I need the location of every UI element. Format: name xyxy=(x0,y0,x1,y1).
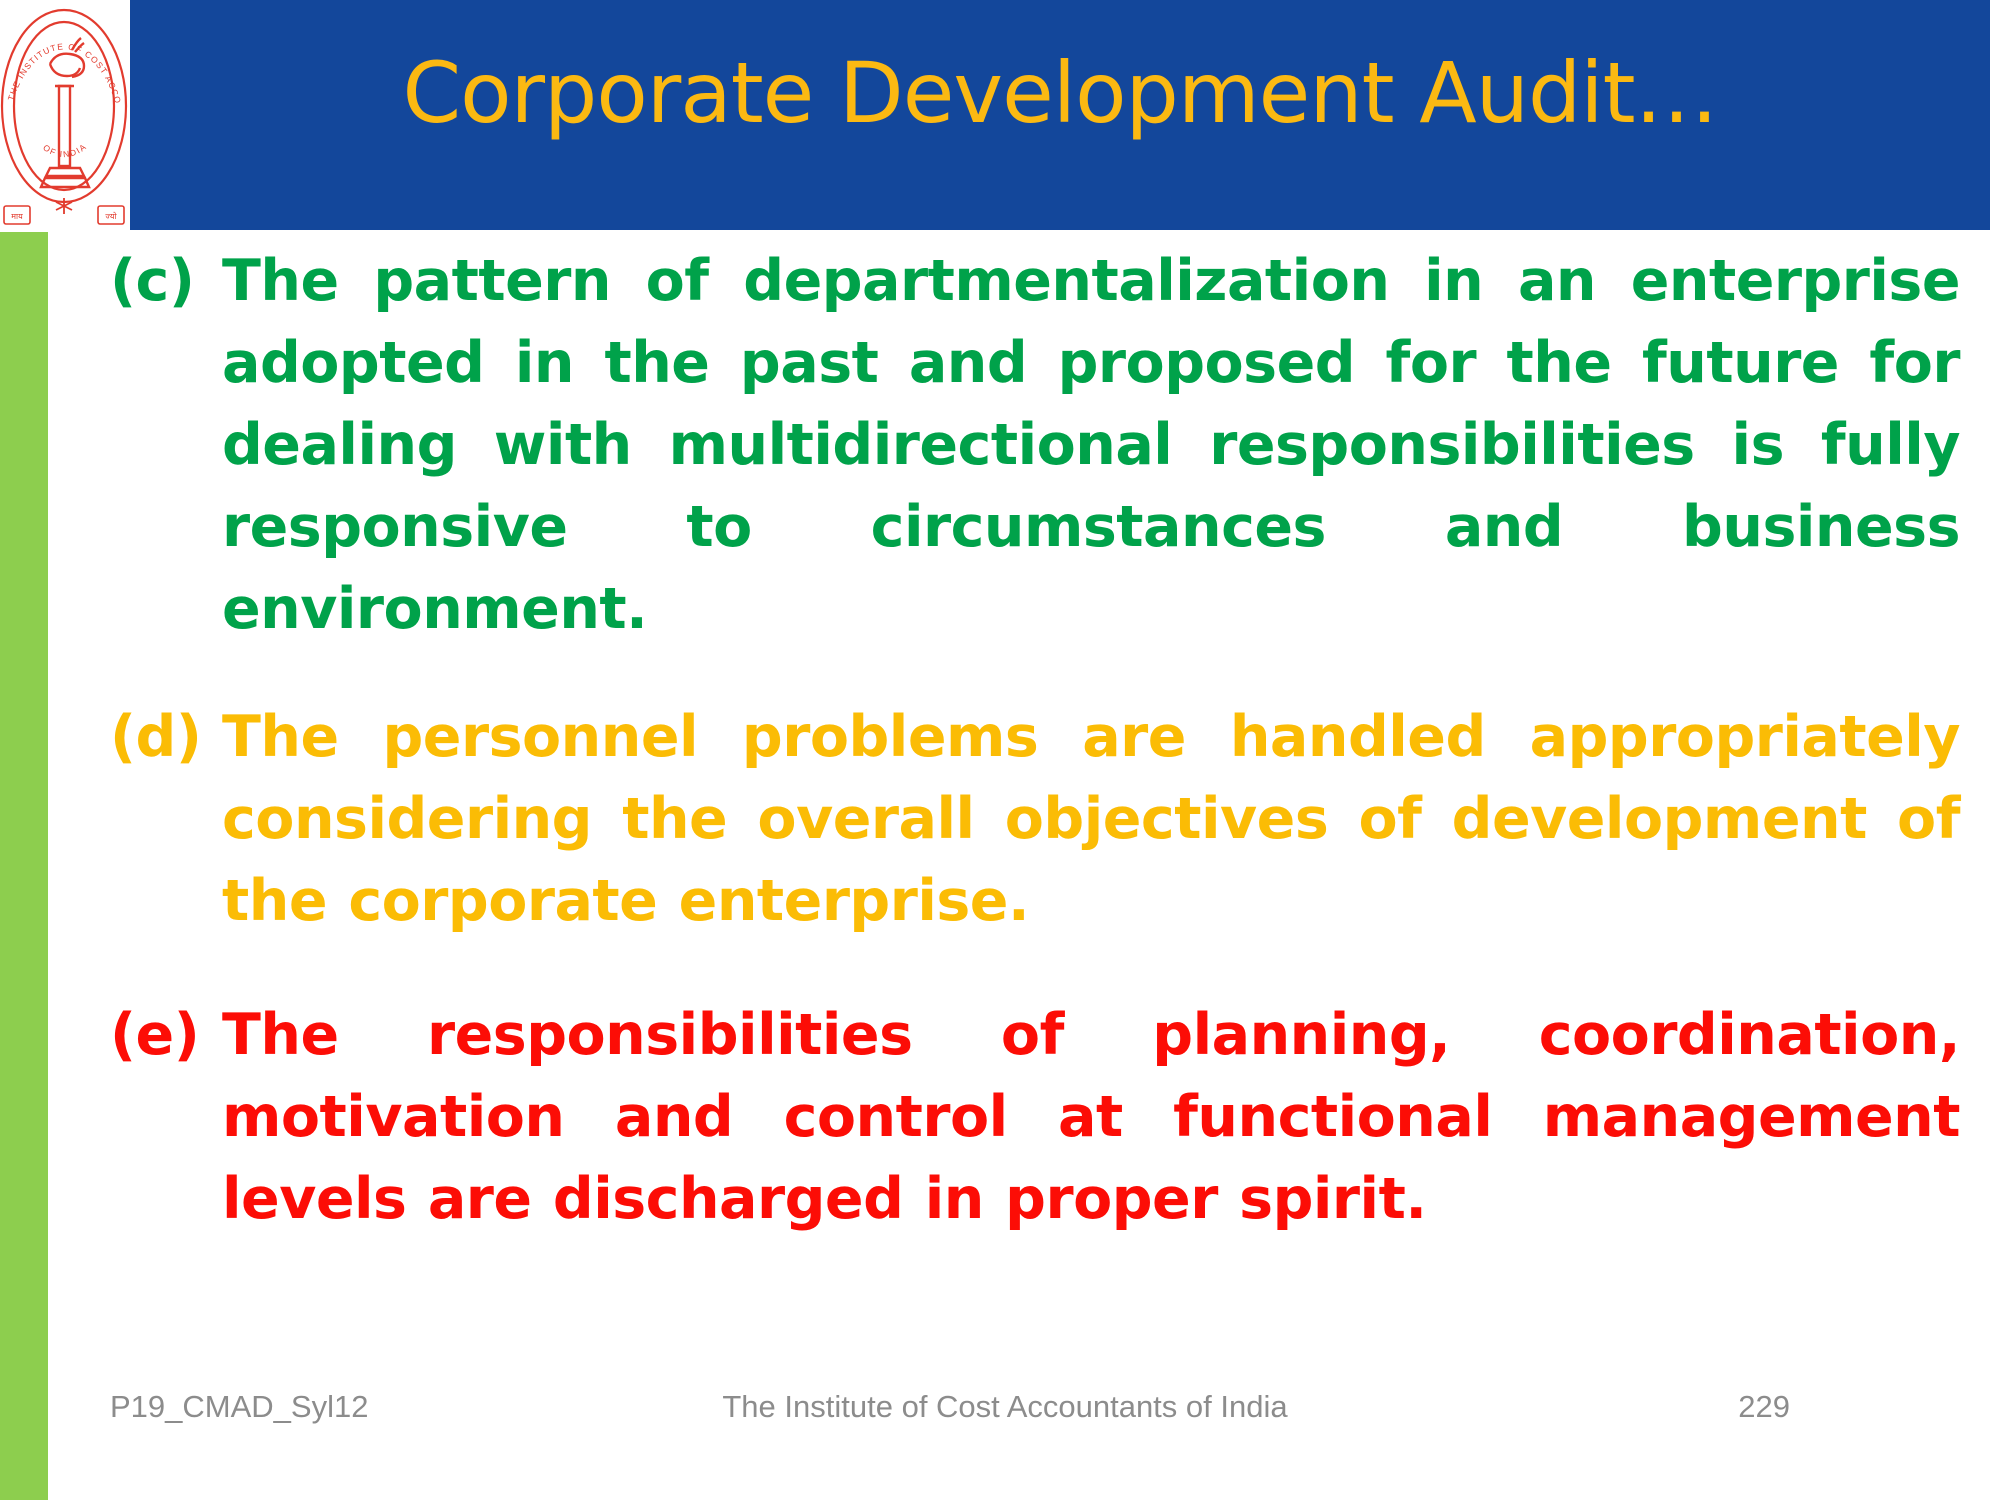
bullet-text-c: The pattern of departmentalization in an… xyxy=(222,248,1960,642)
slide-content: (c)The pattern of departmentalization in… xyxy=(110,240,1960,1286)
slide: THE INSTITUTE OF COST ACCOUNTANTS OF IND… xyxy=(0,0,1990,1500)
slide-footer: P19_CMAD_Syl12 The Institute of Cost Acc… xyxy=(110,1384,1900,1430)
left-accent-bar xyxy=(0,232,48,1500)
institute-logo: THE INSTITUTE OF COST ACCOUNTANTS OF IND… xyxy=(0,0,130,232)
bullet-paragraph-c: (c)The pattern of departmentalization in… xyxy=(110,240,1960,650)
bullet-paragraph-e: (e)The responsibilities of planning, coo… xyxy=(110,994,1960,1240)
bullet-text-d: The personnel problems are handled appro… xyxy=(222,704,1960,934)
bullet-marker-c: (c) xyxy=(110,240,214,322)
bullet-text-e: The responsibilities of planning, coordi… xyxy=(222,1002,1960,1232)
footer-organization: The Institute of Cost Accountants of Ind… xyxy=(110,1384,1900,1430)
bullet-paragraph-d: (d)The personnel problems are handled ap… xyxy=(110,696,1960,942)
institute-seal-icon: THE INSTITUTE OF COST ACCOUNTANTS OF IND… xyxy=(0,2,130,230)
bullet-marker-d: (d) xyxy=(110,696,214,778)
page-title: Corporate Development Audit… xyxy=(130,38,1990,148)
footer-page-number: 229 xyxy=(1738,1384,1790,1430)
svg-text:ज्यो: ज्यो xyxy=(105,211,117,221)
svg-text:माय: माय xyxy=(11,212,23,221)
bullet-marker-e: (e) xyxy=(110,994,214,1076)
svg-text:OF INDIA: OF INDIA xyxy=(41,141,89,159)
